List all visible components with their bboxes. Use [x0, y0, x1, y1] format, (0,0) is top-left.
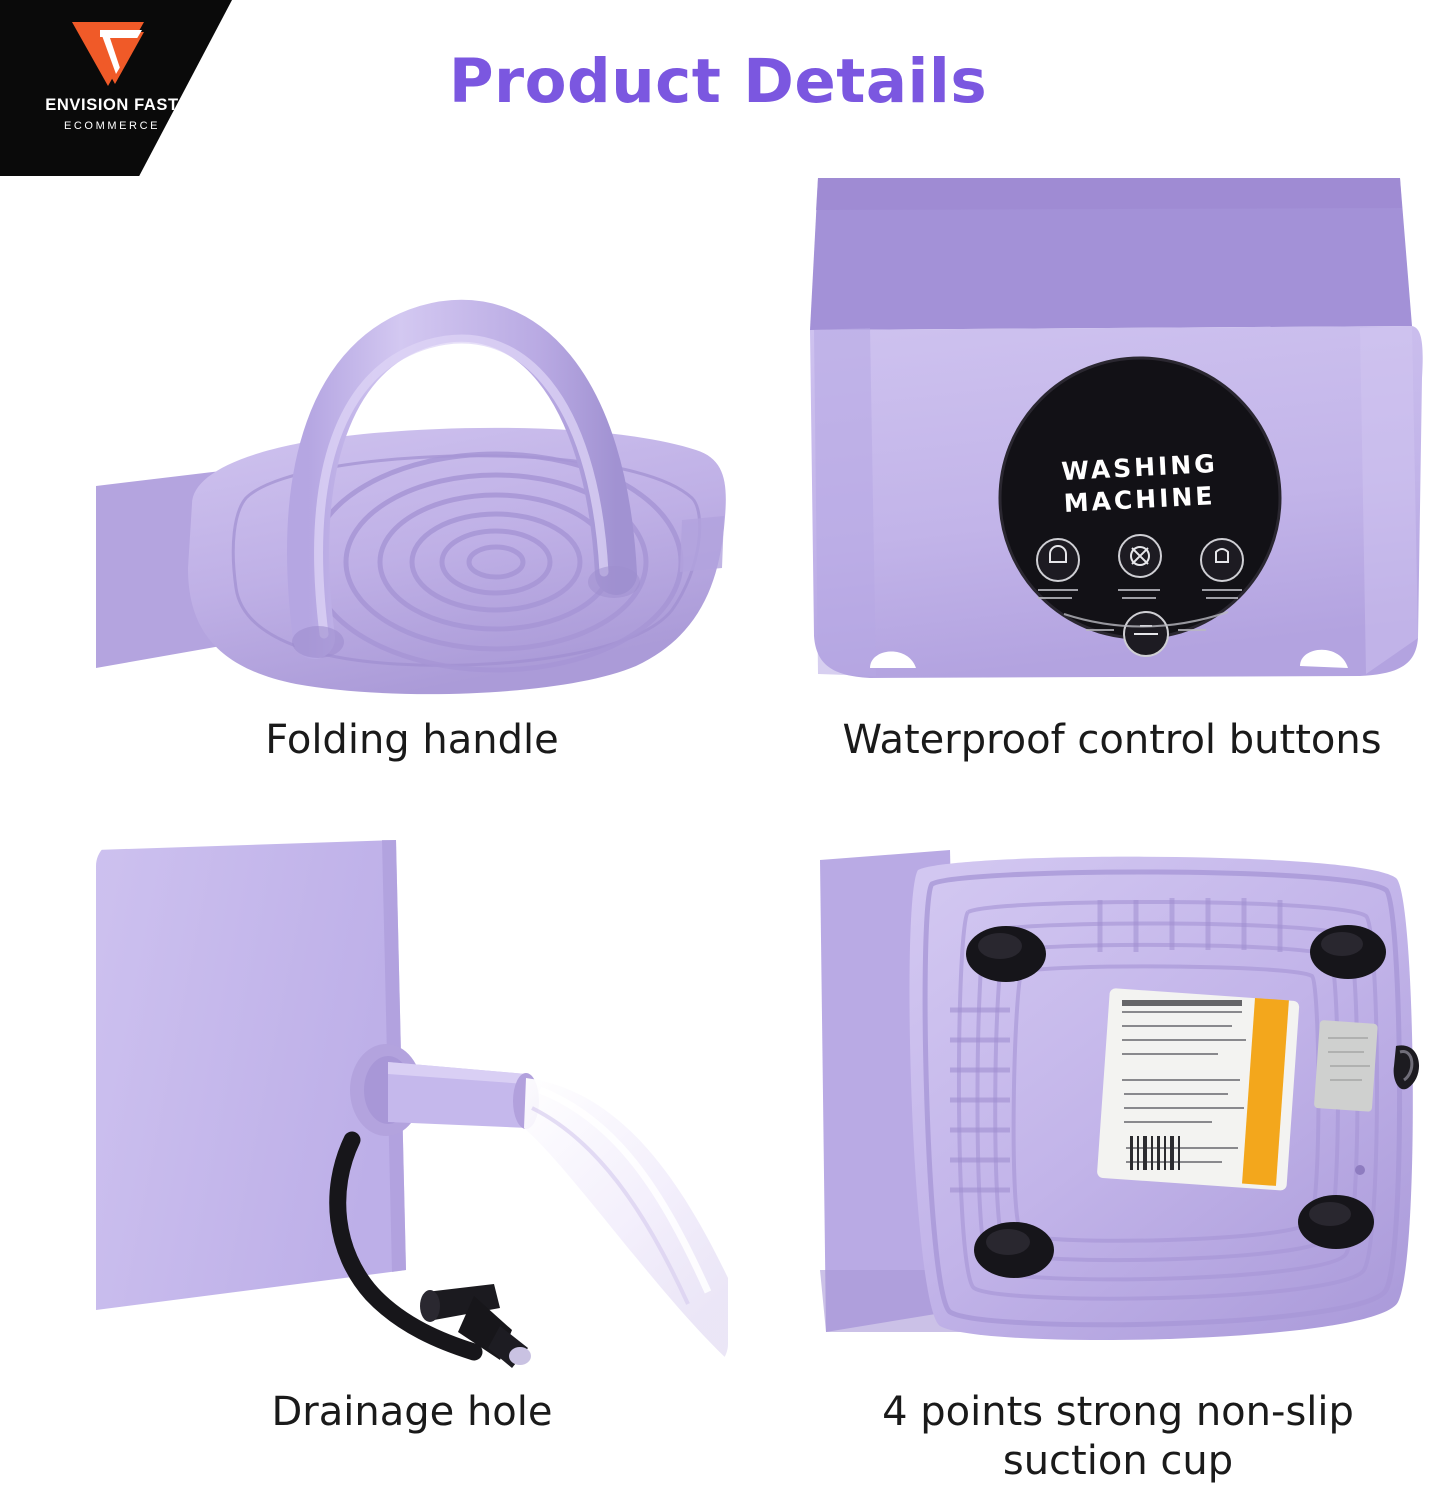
folding-handle-photo	[96, 168, 728, 698]
panel-drainage-hole: Drainage hole	[96, 840, 728, 1500]
panel-suction-cup: 4 points strong non-slip suction cup	[800, 840, 1436, 1500]
caption-control-buttons: Waterproof control buttons	[794, 716, 1430, 765]
logo-text-secondary: ECOMMERCE	[22, 120, 202, 132]
drainage-hole-photo	[96, 840, 728, 1370]
suction-cup-photo	[800, 840, 1426, 1370]
logo-text-primary: ENVISION FAST	[22, 96, 202, 115]
panel-folding-handle: Folding handle	[96, 168, 728, 808]
waterproof-control-buttons-photo: WASHING MACHINE	[800, 168, 1426, 698]
brand-logo-badge: ENVISION FAST ECOMMERCE	[0, 0, 232, 176]
caption-folding-handle: Folding handle	[96, 716, 728, 765]
caption-suction-cup: 4 points strong non-slip suction cup	[800, 1388, 1436, 1486]
product-details-grid: Folding handle	[0, 168, 1436, 1500]
caption-drainage-hole: Drainage hole	[96, 1388, 728, 1437]
panel-control-buttons: WASHING MACHINE	[800, 168, 1436, 808]
chevron-diamond-icon	[70, 18, 146, 90]
